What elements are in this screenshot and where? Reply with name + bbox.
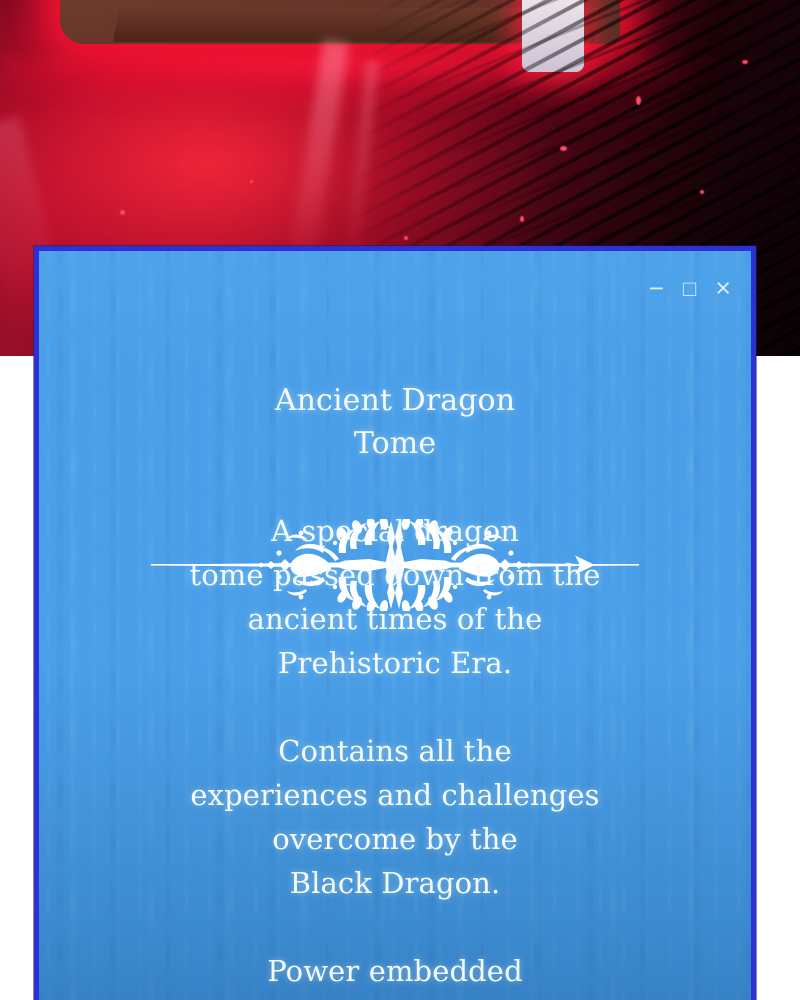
- ember-particle: [742, 60, 748, 64]
- ember-particle: [560, 146, 567, 151]
- tome-content: Ancient Dragon Tome A special dragon tom…: [39, 379, 751, 993]
- tome-info-window: − □ ×: [34, 246, 756, 1000]
- tome-description-paragraph-1: A special dragon tome passed down from t…: [67, 509, 723, 685]
- minimize-icon[interactable]: −: [649, 275, 664, 301]
- ember-particle: [404, 236, 408, 240]
- ember-particle: [700, 190, 704, 194]
- ember-particle: [120, 210, 125, 215]
- ember-particle: [250, 180, 253, 183]
- ember-particle: [636, 96, 641, 105]
- window-controls: − □ ×: [649, 275, 731, 302]
- close-icon[interactable]: ×: [715, 275, 731, 302]
- screenshot-stage: − □ ×: [0, 0, 800, 1000]
- tome-description-paragraph-3: Power embedded: [67, 949, 723, 993]
- ember-particle: [520, 216, 524, 222]
- maximize-icon[interactable]: □: [683, 278, 696, 300]
- tome-title: Ancient Dragon Tome: [67, 379, 723, 465]
- tome-description-paragraph-2: Contains all the experiences and challen…: [67, 729, 723, 905]
